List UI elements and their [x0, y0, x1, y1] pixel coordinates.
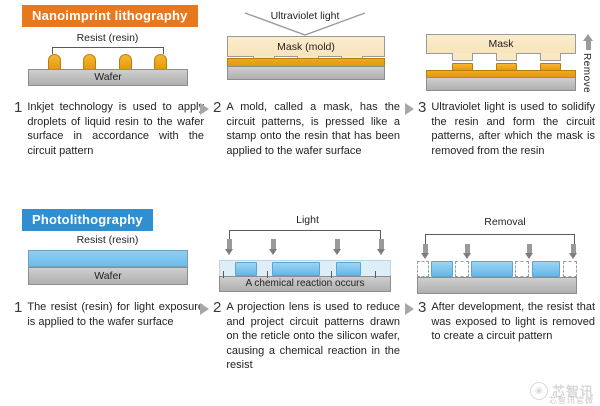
figure-photolithography-step3: Removal: [415, 216, 595, 296]
step-number: 2: [213, 300, 221, 316]
figure-label-chemical-reaction: A chemical reaction occurs: [219, 276, 391, 292]
step-arrow-icon: [200, 103, 209, 115]
step-text: Inkjet technology is used to apply dropl…: [27, 100, 204, 158]
figure-label-remove: Remove: [581, 53, 592, 93]
watermark-subtext: 芯智讯官微: [549, 395, 594, 406]
step-text: A projection lens is used to reduce and …: [226, 300, 400, 373]
step-photolithography-2: 2 A projection lens is used to reduce an…: [200, 300, 400, 373]
step-nanoimprint-2: 2 A mold, called a mask, has the circuit…: [200, 100, 400, 158]
figure-nanoimprint-step3: Mask Remove: [420, 20, 595, 92]
figure-photolithography-step1: Resist (resin) Wafer: [20, 234, 195, 294]
step-number: 3: [418, 100, 426, 116]
step-number: 2: [213, 100, 221, 116]
process-row-nanoimprint: Nanoimprint lithography Resist (resin) W…: [0, 0, 600, 200]
weibo-icon: ◉: [530, 382, 548, 400]
step-arrow-icon: [200, 303, 209, 315]
process-title-photolithography: Photolithography: [22, 209, 153, 231]
step-number: 1: [14, 100, 22, 116]
step-text: The resist (resin) for light exposure is…: [27, 300, 204, 329]
figure-label-resist: Resist (resin): [20, 32, 195, 44]
figure-photolithography-step2: Light A chemical reaction occurs: [215, 214, 400, 294]
figure-nanoimprint-step2: Ultraviolet light Mask (mold): [215, 8, 395, 90]
figure-label-mask: Mask: [426, 34, 576, 54]
figure-nanoimprint-step1: Resist (resin) Wafer: [20, 32, 195, 87]
process-title-nanoimprint: Nanoimprint lithography: [22, 5, 198, 27]
step-nanoimprint-1: 1 Inkjet technology is used to apply dro…: [14, 100, 204, 158]
step-number: 1: [14, 300, 22, 316]
process-title-label: Photolithography: [22, 209, 153, 231]
step-nanoimprint-3: 3 Ultraviolet light is used to solidify …: [405, 100, 595, 158]
step-photolithography-3: 3 After development, the resist that was…: [405, 300, 595, 344]
step-text: Ultraviolet light is used to solidify th…: [431, 100, 595, 158]
figure-label-wafer: Wafer: [28, 69, 188, 86]
step-photolithography-1: 1 The resist (resin) for light exposure …: [14, 300, 204, 329]
figure-label-mask-mold: Mask (mold): [227, 36, 385, 57]
figure-label-resist: Resist (resin): [20, 234, 195, 246]
diagram-canvas: Nanoimprint lithography Resist (resin) W…: [0, 0, 600, 404]
step-number: 3: [418, 300, 426, 316]
figure-label-light: Light: [215, 214, 400, 226]
process-title-label: Nanoimprint lithography: [22, 5, 198, 27]
figure-label-removal: Removal: [415, 216, 595, 228]
process-row-photolithography: Photolithography Resist (resin) Wafer Li…: [0, 204, 600, 404]
uv-light-chevron-icon: [243, 9, 367, 39]
step-arrow-icon: [405, 103, 414, 115]
step-text: After development, the resist that was e…: [431, 300, 595, 344]
step-arrow-icon: [405, 303, 414, 315]
figure-label-wafer: Wafer: [28, 267, 188, 285]
step-text: A mold, called a mask, has the circuit p…: [226, 100, 400, 158]
